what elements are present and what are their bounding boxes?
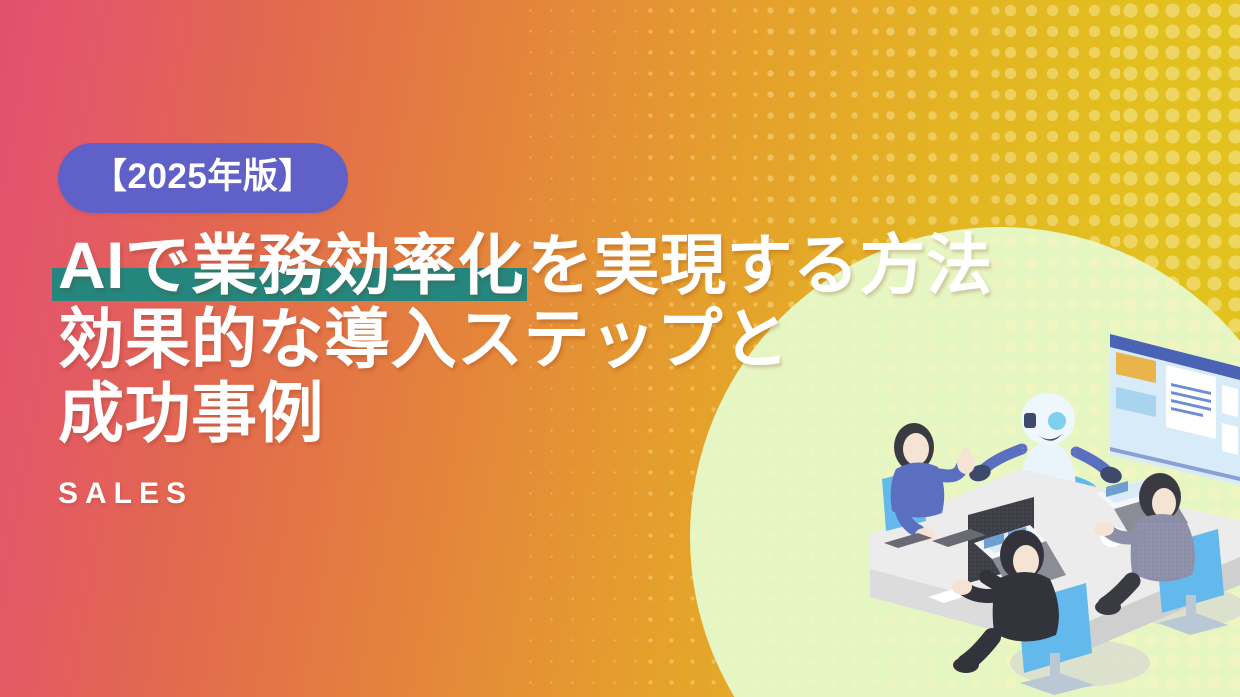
year-badge: 【2025年版】 [58,143,348,213]
headline-line-1-rest: を実現する方法 [527,228,993,302]
text-content: 【2025年版】 AIで業務効率化を実現する方法 効果的な導入ステップと 成功事… [58,143,1108,511]
category-kicker: SALES [58,477,1108,511]
headline-line-1: AIで業務効率化を実現する方法 [58,229,1108,303]
wall-screen [1110,334,1240,485]
banner-root: 【2025年版】 AIで業務効率化を実現する方法 効果的な導入ステップと 成功事… [0,0,1240,697]
headline: AIで業務効率化を実現する方法 効果的な導入ステップと 成功事例 [58,229,1108,451]
headline-line-2: 効果的な導入ステップと [58,303,1108,377]
headline-highlight: AIで業務効率化 [52,228,527,302]
headline-line-3: 成功事例 [58,377,1108,451]
